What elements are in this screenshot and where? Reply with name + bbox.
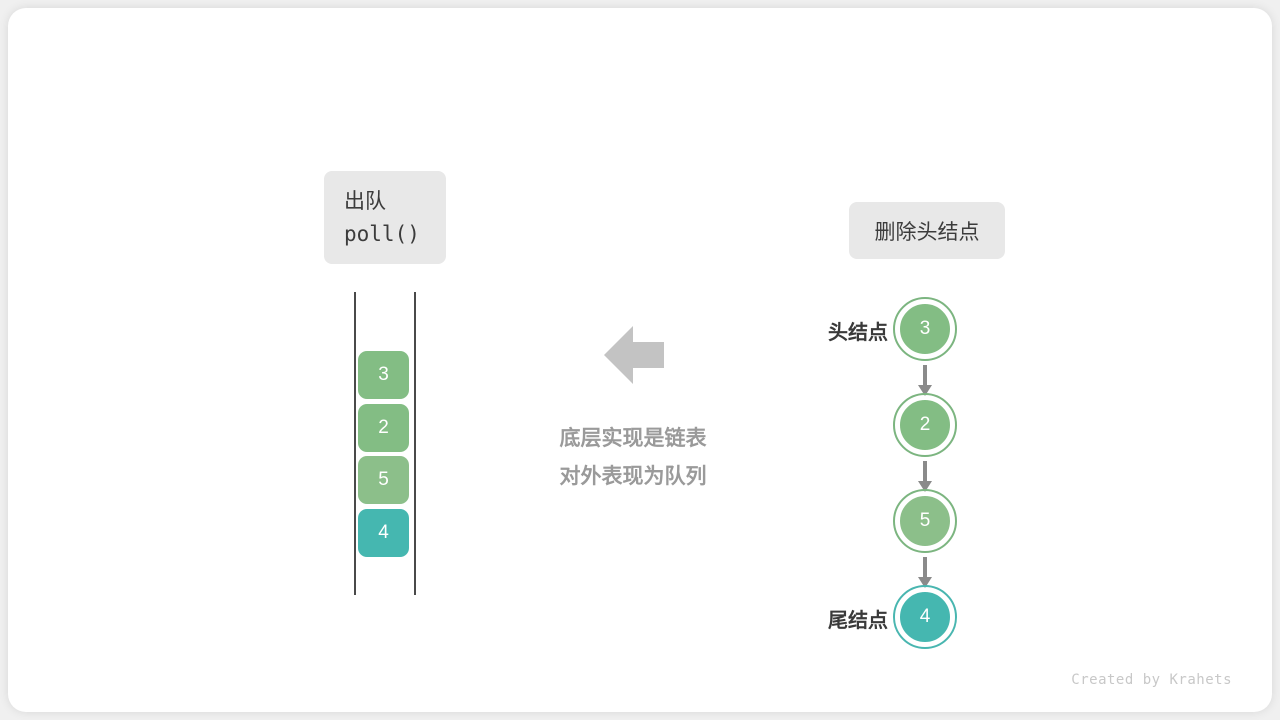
link-arrow-shaft bbox=[923, 461, 927, 482]
list-node: 3 bbox=[897, 301, 953, 357]
linked-list: 3254 bbox=[866, 288, 990, 656]
queue-rail-left bbox=[354, 292, 356, 595]
link-arrow-icon bbox=[922, 557, 928, 587]
poll-operation-label: 出队 poll() bbox=[324, 171, 446, 264]
queue-cell: 5 bbox=[358, 456, 409, 504]
queue-cell: 3 bbox=[358, 351, 409, 399]
queue-rail-right bbox=[414, 292, 416, 595]
queue-cell: 2 bbox=[358, 404, 409, 452]
link-arrow-shaft bbox=[923, 557, 927, 578]
queue-container: 3254 bbox=[352, 292, 418, 595]
link-arrow-shaft bbox=[923, 365, 927, 386]
list-node: 4 bbox=[897, 589, 953, 645]
link-arrow-icon bbox=[922, 365, 928, 395]
diagram-canvas: 出队 poll() 删除头结点 3254 底层实现是链表 对外表现为队列 头结点… bbox=[0, 0, 1280, 720]
center-caption: 底层实现是链表 对外表现为队列 bbox=[508, 420, 758, 496]
list-node: 5 bbox=[897, 493, 953, 549]
remove-head-label: 删除头结点 bbox=[849, 202, 1005, 259]
poll-label-title: 出队 bbox=[344, 186, 386, 218]
caption-line-1: 底层实现是链表 bbox=[508, 420, 758, 458]
caption-line-2: 对外表现为队列 bbox=[508, 458, 758, 496]
flow-arrow-left-icon bbox=[604, 326, 664, 384]
poll-label-code: poll() bbox=[344, 218, 420, 250]
credit-text: Created by Krahets bbox=[1071, 672, 1232, 688]
diagram-card: 出队 poll() 删除头结点 3254 底层实现是链表 对外表现为队列 头结点… bbox=[8, 8, 1272, 712]
queue-cell: 4 bbox=[358, 509, 409, 557]
link-arrow-icon bbox=[922, 461, 928, 491]
list-node: 2 bbox=[897, 397, 953, 453]
